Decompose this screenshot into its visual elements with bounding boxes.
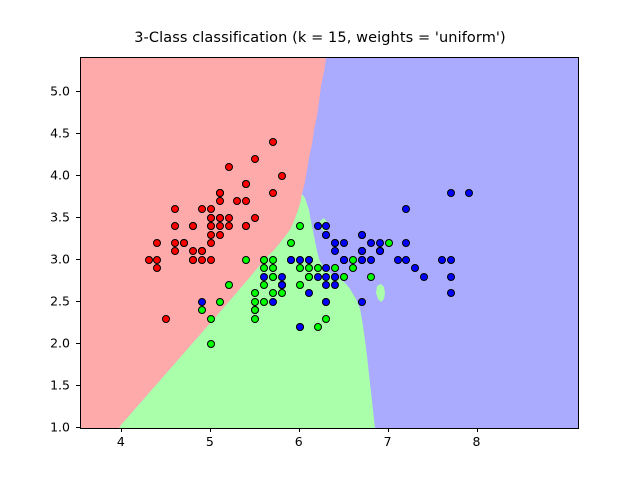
data-point [322,273,330,281]
data-point [216,197,224,205]
data-point [322,222,330,230]
data-point [207,256,215,264]
y-tick-label: 1.5 [50,377,70,392]
data-point [447,189,455,197]
data-point [420,273,428,281]
data-point [242,180,250,188]
x-tick-label: 6 [295,434,303,449]
data-point [242,222,250,230]
y-tick-label: 4.5 [50,125,70,140]
data-point [225,222,233,230]
y-tick-label: 4.0 [50,167,70,182]
data-point [207,222,215,230]
data-point [207,214,215,222]
data-point [385,239,393,247]
data-point [340,239,348,247]
y-tick-mark [76,91,80,92]
data-point [322,281,330,289]
data-point [171,247,179,255]
data-point [305,264,313,272]
data-point [171,239,179,247]
data-point [394,256,402,264]
data-point [242,197,250,205]
x-tick-label: 7 [384,434,392,449]
data-point [207,231,215,239]
data-point [251,155,259,163]
data-point [251,306,259,314]
data-point [269,256,277,264]
x-tick-label: 8 [473,434,481,449]
y-tick-mark [76,301,80,302]
data-point [447,289,455,297]
data-point [198,205,206,213]
data-point [314,264,322,272]
data-point [305,256,313,264]
data-point [358,298,366,306]
data-point [171,205,179,213]
plot-axes [80,57,579,429]
data-point [331,281,339,289]
data-point [340,256,348,264]
data-point [278,281,286,289]
data-point [278,289,286,297]
data-point [269,264,277,272]
data-point [198,306,206,314]
data-point [242,256,250,264]
data-point [251,315,259,323]
data-point [402,239,410,247]
data-point [189,247,197,255]
data-point [225,214,233,222]
data-point [278,172,286,180]
data-point [465,189,473,197]
data-point [314,273,322,281]
data-point [269,273,277,281]
data-point [358,256,366,264]
data-point [305,273,313,281]
y-tick-label: 1.0 [50,420,70,435]
data-point [260,298,268,306]
data-point [198,256,206,264]
y-tick-label: 3.5 [50,209,70,224]
data-point [322,231,330,239]
data-point [447,256,455,264]
data-point [269,289,277,297]
data-point [260,281,268,289]
data-point [171,222,179,230]
y-tick-label: 3.0 [50,251,70,266]
x-tick-mark [121,428,122,432]
data-point [331,264,339,272]
data-point [322,298,330,306]
data-point [153,256,161,264]
data-point [260,264,268,272]
data-point [367,239,375,247]
matplotlib-figure: 3-Class classification (k = 15, weights … [0,0,640,480]
data-point [305,289,313,297]
y-tick-label: 5.0 [50,83,70,98]
data-point [331,247,339,255]
data-point [349,256,357,264]
data-point [207,239,215,247]
data-point [278,273,286,281]
data-point [314,222,322,230]
data-point [269,298,277,306]
data-point [349,264,357,272]
y-tick-label: 2.0 [50,335,70,350]
data-point [269,189,277,197]
data-point [198,247,206,255]
data-point [207,315,215,323]
y-tick-mark [76,259,80,260]
data-point [296,264,304,272]
data-point [438,256,446,264]
y-tick-mark [76,343,80,344]
data-point [189,256,197,264]
data-point [216,214,224,222]
data-point [225,163,233,171]
data-point [153,239,161,247]
y-tick-mark [76,133,80,134]
data-point [402,256,410,264]
data-point [216,231,224,239]
data-point [287,239,295,247]
data-point [251,214,259,222]
y-tick-mark [76,175,80,176]
data-point [207,205,215,213]
data-point [322,264,330,272]
data-point [287,256,295,264]
data-point [296,281,304,289]
data-point [402,205,410,213]
x-tick-label: 4 [117,434,125,449]
data-point [251,289,259,297]
y-tick-mark [76,427,80,428]
data-point [216,189,224,197]
scatter-points [81,58,578,428]
data-point [189,222,197,230]
data-point [358,231,366,239]
data-point [340,273,348,281]
data-point [367,256,375,264]
data-point [198,298,206,306]
data-point [269,138,277,146]
data-point [331,273,339,281]
data-point [296,222,304,230]
data-point [216,222,224,230]
data-point [447,273,455,281]
data-point [376,239,384,247]
data-point [260,256,268,264]
data-point [314,323,322,331]
data-point [376,247,384,255]
data-point [296,256,304,264]
data-point [207,340,215,348]
data-point [145,256,153,264]
data-point [411,264,419,272]
data-point [358,247,366,255]
data-point [367,273,375,281]
x-tick-mark [388,428,389,432]
x-tick-label: 5 [206,434,214,449]
x-tick-mark [477,428,478,432]
data-point [162,315,170,323]
data-point [225,281,233,289]
x-tick-mark [210,428,211,432]
data-point [260,273,268,281]
data-point [322,315,330,323]
y-tick-label: 2.5 [50,293,70,308]
data-point [216,298,224,306]
data-point [331,239,339,247]
data-point [233,197,241,205]
data-point [180,239,188,247]
data-point [296,323,304,331]
page-title: 3-Class classification (k = 15, weights … [0,30,640,46]
y-tick-mark [76,217,80,218]
y-tick-mark [76,385,80,386]
data-point [251,298,259,306]
x-tick-mark [299,428,300,432]
data-point [153,264,161,272]
